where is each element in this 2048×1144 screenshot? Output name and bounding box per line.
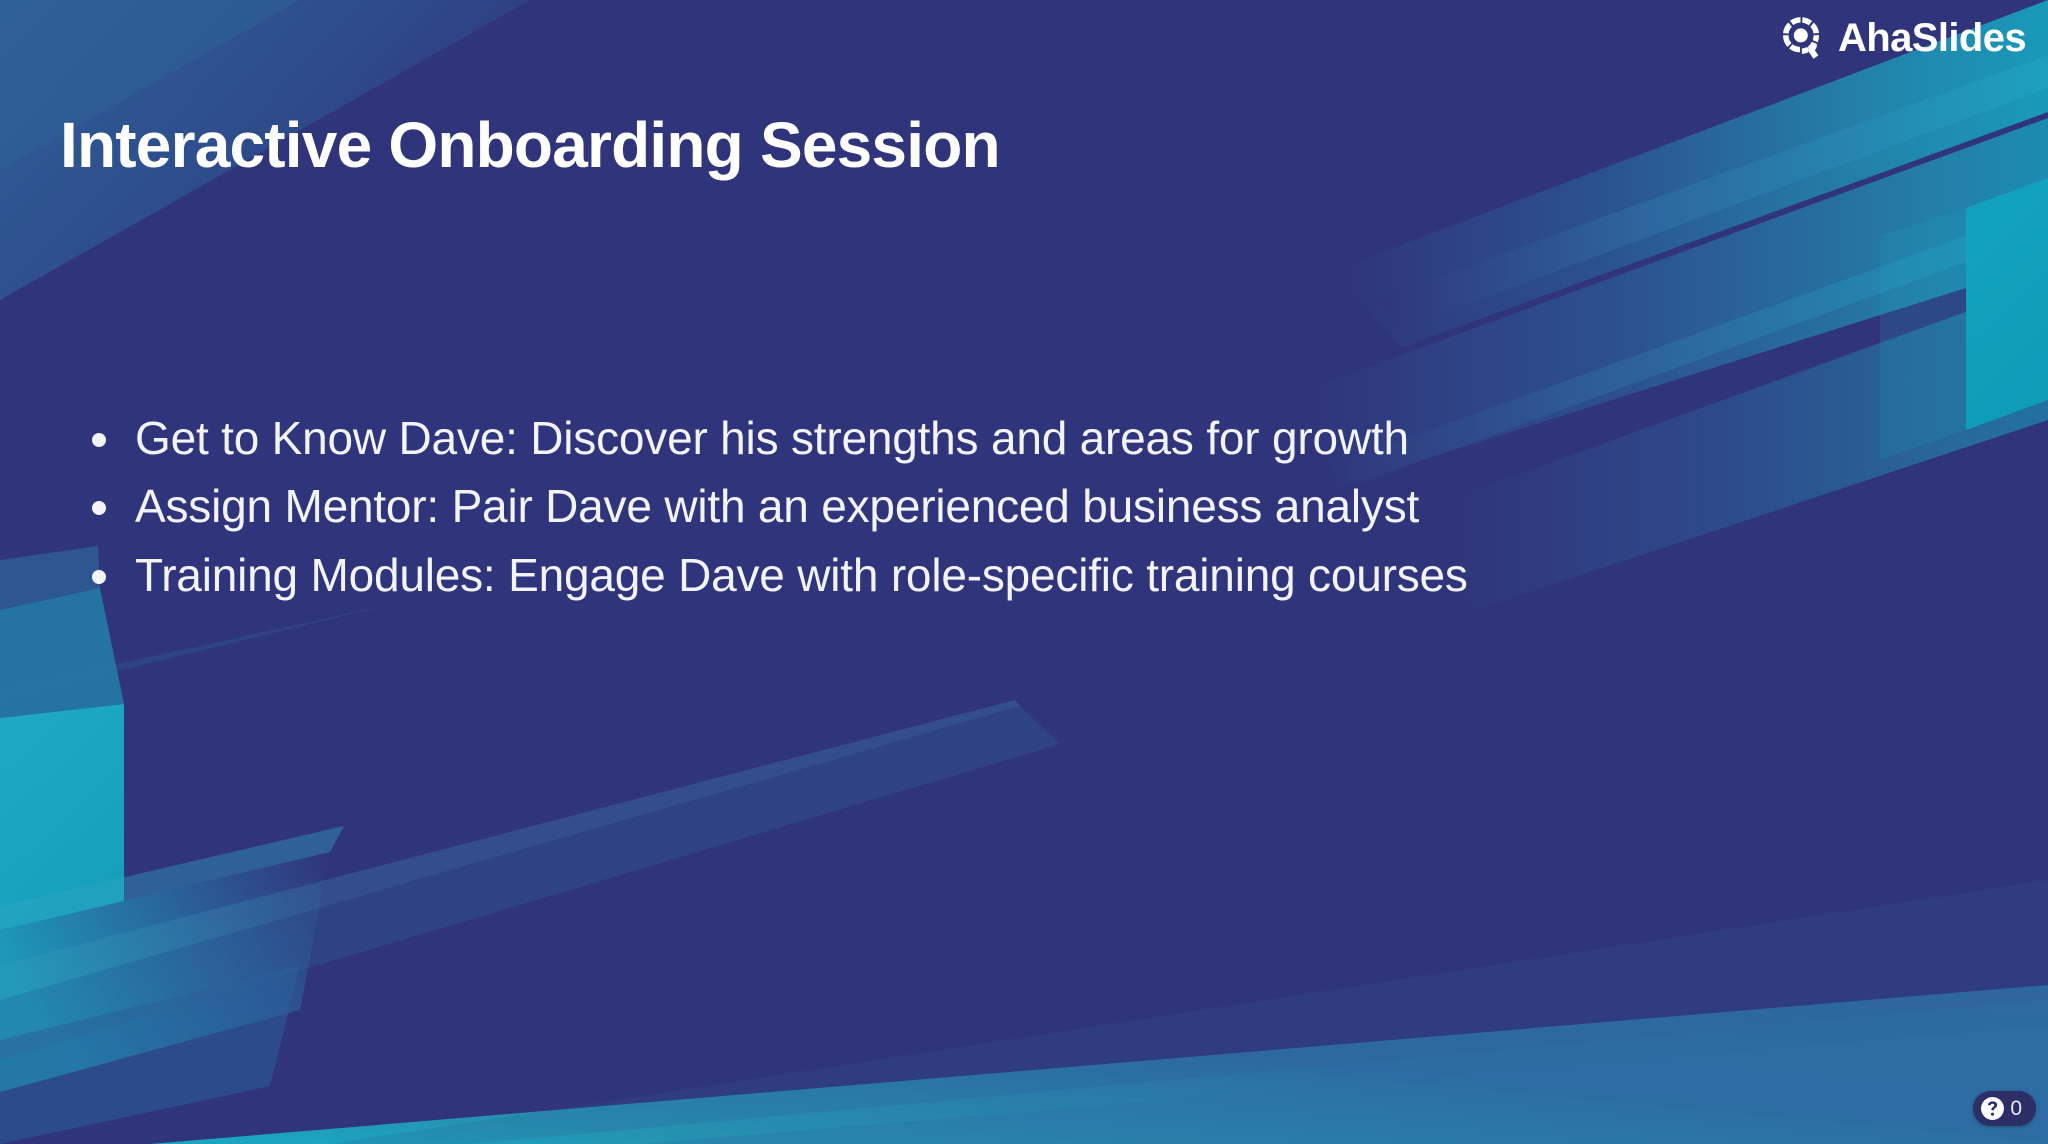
bullet-item-text: Get to Know Dave: Discover his strengths… bbox=[135, 412, 1409, 464]
bullet-dot-icon bbox=[92, 433, 106, 447]
ahaslides-logo-icon bbox=[1777, 14, 1825, 62]
bullet-dot-icon bbox=[92, 501, 106, 515]
bullet-list-item: Get to Know Dave: Discover his strengths… bbox=[92, 412, 1972, 464]
bullet-dot-icon bbox=[92, 570, 106, 584]
bullet-list-item: Assign Mentor: Pair Dave with an experie… bbox=[92, 480, 1972, 532]
bullet-list-item: Training Modules: Engage Dave with role-… bbox=[92, 549, 1972, 601]
help-counter-pill[interactable]: 0 bbox=[1973, 1091, 2036, 1126]
slide-bullet-list: Get to Know Dave: Discover his strengths… bbox=[92, 412, 1972, 617]
help-counter-value: 0 bbox=[2010, 1098, 2022, 1119]
brand-name: AhaSlides bbox=[1838, 18, 2026, 58]
bullet-item-text: Assign Mentor: Pair Dave with an experie… bbox=[135, 480, 1419, 532]
question-mark-circle-icon[interactable] bbox=[1980, 1096, 2005, 1121]
presentation-slide: AhaSlides Interactive Onboarding Session… bbox=[0, 0, 2048, 1144]
slide-title: Interactive Onboarding Session bbox=[60, 109, 1000, 182]
bullet-item-text: Training Modules: Engage Dave with role-… bbox=[135, 549, 1468, 601]
ahaslides-logo: AhaSlides bbox=[1777, 14, 2026, 62]
